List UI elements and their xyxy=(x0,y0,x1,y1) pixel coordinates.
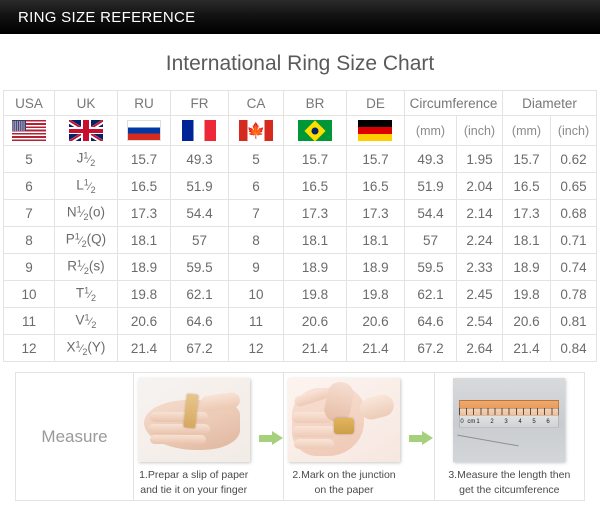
cell-diam_mm: 18.1 xyxy=(502,227,550,254)
cell-diam_mm: 20.6 xyxy=(502,308,550,335)
cell-br: 19.8 xyxy=(283,281,346,308)
measure-step-1-caption: 1.Prepar a slip of paperand tie it on yo… xyxy=(131,468,257,496)
column-header-ca: CA xyxy=(228,91,283,116)
cell-circ_inch: 2.45 xyxy=(456,281,502,308)
table-row: 5J1⁄215.749.3515.715.749.31.9515.70.62 xyxy=(3,146,596,173)
column-header-uk: UK xyxy=(54,91,117,116)
cell-de: 16.5 xyxy=(346,173,404,200)
table-row: 6L1⁄216.551.9616.516.551.92.0416.50.65 xyxy=(3,173,596,200)
cell-circ_mm: 49.3 xyxy=(404,146,456,173)
ring-size-table: USA UK RU FR CA BR DE Circumference Diam… xyxy=(3,90,597,362)
cell-br: 16.5 xyxy=(283,173,346,200)
cell-circ_mm: 64.6 xyxy=(404,308,456,335)
cell-circ_inch: 2.24 xyxy=(456,227,502,254)
cell-diam_inch: 0.74 xyxy=(550,254,596,281)
flag-cell-de xyxy=(346,116,404,146)
ruler-mark: 6 xyxy=(546,419,549,425)
cell-fr: 51.9 xyxy=(170,173,228,200)
page-banner: RING SIZE REFERENCE xyxy=(0,0,600,34)
flag-cell-ca: 🍁 xyxy=(228,116,283,146)
cell-ru: 21.4 xyxy=(117,335,170,362)
flag-usa-icon xyxy=(12,120,46,141)
cell-uk: X1⁄2(Y) xyxy=(54,335,117,362)
hand-with-paper-slip-image xyxy=(138,378,250,462)
flag-cell-usa xyxy=(3,116,54,146)
cell-fr: 57 xyxy=(170,227,228,254)
measure-label: Measure xyxy=(16,373,134,501)
cell-br: 18.1 xyxy=(283,227,346,254)
ruler-mark: 2 xyxy=(490,419,493,425)
column-header-ru: RU xyxy=(117,91,170,116)
cell-usa: 7 xyxy=(3,200,54,227)
cell-circ_inch: 2.14 xyxy=(456,200,502,227)
cell-ca: 6 xyxy=(228,173,283,200)
cell-ca: 7 xyxy=(228,200,283,227)
table-row: 7N1⁄2(o)17.354.4717.317.354.42.1417.30.6… xyxy=(3,200,596,227)
table-row: 11V1⁄220.664.61120.620.664.62.5420.60.81 xyxy=(3,308,596,335)
cell-circ_mm: 59.5 xyxy=(404,254,456,281)
cell-fr: 49.3 xyxy=(170,146,228,173)
cell-diam_mm: 18.9 xyxy=(502,254,550,281)
column-header-diameter: Diameter xyxy=(502,91,596,116)
cell-diam_inch: 0.78 xyxy=(550,281,596,308)
cell-diam_inch: 0.71 xyxy=(550,227,596,254)
cell-ca: 8 xyxy=(228,227,283,254)
cell-circ_mm: 57 xyxy=(404,227,456,254)
cell-ru: 16.5 xyxy=(117,173,170,200)
cell-circ_mm: 51.9 xyxy=(404,173,456,200)
cell-diam_mm: 15.7 xyxy=(502,146,550,173)
cell-de: 20.6 xyxy=(346,308,404,335)
cell-diam_mm: 19.8 xyxy=(502,281,550,308)
cell-diam_inch: 0.81 xyxy=(550,308,596,335)
cell-circ_mm: 67.2 xyxy=(404,335,456,362)
cell-uk: L1⁄2 xyxy=(54,173,117,200)
cell-br: 21.4 xyxy=(283,335,346,362)
cell-usa: 11 xyxy=(3,308,54,335)
ruler-mark: 4 xyxy=(518,419,521,425)
cell-circ_mm: 54.4 xyxy=(404,200,456,227)
ruler-mark: 1 xyxy=(476,419,479,425)
cell-ca: 12 xyxy=(228,335,283,362)
cell-uk: J1⁄2 xyxy=(54,146,117,173)
cell-uk: T1⁄2 xyxy=(54,281,117,308)
cell-br: 15.7 xyxy=(283,146,346,173)
column-header-usa: USA xyxy=(3,91,54,116)
cell-fr: 64.6 xyxy=(170,308,228,335)
table-row: 10T1⁄219.862.11019.819.862.12.4519.80.78 xyxy=(3,281,596,308)
ring-size-table-body: 5J1⁄215.749.3515.715.749.31.9515.70.626L… xyxy=(3,146,596,362)
arrow-right-icon-2 xyxy=(409,425,435,451)
cell-circ_mm: 62.1 xyxy=(404,281,456,308)
cell-br: 20.6 xyxy=(283,308,346,335)
cell-fr: 54.4 xyxy=(170,200,228,227)
cell-usa: 8 xyxy=(3,227,54,254)
flag-france-icon xyxy=(182,120,216,141)
unit-circumference-mm: (mm) xyxy=(404,116,456,146)
cell-ru: 15.7 xyxy=(117,146,170,173)
measure-step-2-caption: 2.Mark on the junctionon the paper xyxy=(281,468,407,496)
cell-circ_inch: 2.33 xyxy=(456,254,502,281)
cell-fr: 62.1 xyxy=(170,281,228,308)
flag-cell-fr xyxy=(170,116,228,146)
flag-cell-br xyxy=(283,116,346,146)
cell-de: 21.4 xyxy=(346,335,404,362)
cell-circ_inch: 2.64 xyxy=(456,335,502,362)
cell-de: 15.7 xyxy=(346,146,404,173)
table-flag-row: 🍁 (mm) (inch) (mm) (inch) xyxy=(3,116,596,146)
ruler-mark: cm xyxy=(467,419,475,425)
cell-br: 18.9 xyxy=(283,254,346,281)
cell-diam_mm: 21.4 xyxy=(502,335,550,362)
cell-usa: 10 xyxy=(3,281,54,308)
measure-step-1: 1.Prepar a slip of paperand tie it on yo… xyxy=(134,373,284,501)
flag-brazil-icon xyxy=(298,120,332,141)
cell-de: 18.1 xyxy=(346,227,404,254)
flag-cell-uk xyxy=(54,116,117,146)
cell-ru: 18.1 xyxy=(117,227,170,254)
cell-diam_mm: 17.3 xyxy=(502,200,550,227)
ruler-measuring-paper-image: 0cm123456 xyxy=(453,378,565,462)
table-row: 8P1⁄2(Q)18.157818.118.1572.2418.10.71 xyxy=(3,227,596,254)
cell-circ_inch: 2.54 xyxy=(456,308,502,335)
ruler-scale-labels: 0cm123456 xyxy=(459,416,559,427)
column-header-de: DE xyxy=(346,91,404,116)
measure-section: Measure 1.Prepar a slip of paperand tie … xyxy=(15,372,585,501)
cell-usa: 12 xyxy=(3,335,54,362)
cell-diam_mm: 16.5 xyxy=(502,173,550,200)
banner-title: RING SIZE REFERENCE xyxy=(0,9,195,26)
measure-step-3: 0cm123456 3.Measure the length thenget t… xyxy=(434,373,584,501)
cell-uk: R1⁄2(s) xyxy=(54,254,117,281)
cell-ca: 9 xyxy=(228,254,283,281)
cell-uk: P1⁄2(Q) xyxy=(54,227,117,254)
cell-de: 17.3 xyxy=(346,200,404,227)
marking-paper-junction-image xyxy=(288,378,400,462)
measure-step-3-caption: 3.Measure the length thenget the citcumf… xyxy=(446,468,572,496)
measure-step-2: 2.Mark on the junctionon the paper xyxy=(284,373,434,501)
page-title: International Ring Size Chart xyxy=(0,34,600,90)
cell-uk: V1⁄2 xyxy=(54,308,117,335)
cell-diam_inch: 0.62 xyxy=(550,146,596,173)
flag-canada-icon: 🍁 xyxy=(239,120,273,141)
cell-fr: 59.5 xyxy=(170,254,228,281)
unit-diameter-inch: (inch) xyxy=(550,116,596,146)
column-header-br: BR xyxy=(283,91,346,116)
table-row: 12X1⁄2(Y)21.467.21221.421.467.22.6421.40… xyxy=(3,335,596,362)
cell-ca: 10 xyxy=(228,281,283,308)
ruler-mark: 3 xyxy=(504,419,507,425)
unit-circumference-inch: (inch) xyxy=(456,116,502,146)
cell-ca: 11 xyxy=(228,308,283,335)
flag-cell-ru xyxy=(117,116,170,146)
table-header-row: USA UK RU FR CA BR DE Circumference Diam… xyxy=(3,91,596,116)
cell-diam_inch: 0.84 xyxy=(550,335,596,362)
table-row: 9R1⁄2(s)18.959.5918.918.959.52.3318.90.7… xyxy=(3,254,596,281)
column-header-circumference: Circumference xyxy=(404,91,502,116)
cell-circ_inch: 2.04 xyxy=(456,173,502,200)
cell-diam_inch: 0.68 xyxy=(550,200,596,227)
cell-ca: 5 xyxy=(228,146,283,173)
cell-fr: 67.2 xyxy=(170,335,228,362)
ruler-mark: 0 xyxy=(460,419,463,425)
ruler-mark: 5 xyxy=(532,419,535,425)
column-header-fr: FR xyxy=(170,91,228,116)
cell-usa: 6 xyxy=(3,173,54,200)
flag-uk-icon xyxy=(69,120,103,141)
cell-ru: 20.6 xyxy=(117,308,170,335)
cell-circ_inch: 1.95 xyxy=(456,146,502,173)
cell-ru: 18.9 xyxy=(117,254,170,281)
flag-russia-icon xyxy=(127,120,161,141)
cell-usa: 5 xyxy=(3,146,54,173)
cell-usa: 9 xyxy=(3,254,54,281)
cell-ru: 19.8 xyxy=(117,281,170,308)
arrow-right-icon-1 xyxy=(259,425,285,451)
unit-diameter-mm: (mm) xyxy=(502,116,550,146)
cell-diam_inch: 0.65 xyxy=(550,173,596,200)
cell-de: 18.9 xyxy=(346,254,404,281)
cell-de: 19.8 xyxy=(346,281,404,308)
flag-germany-icon xyxy=(358,120,392,141)
cell-br: 17.3 xyxy=(283,200,346,227)
cell-ru: 17.3 xyxy=(117,200,170,227)
cell-uk: N1⁄2(o) xyxy=(54,200,117,227)
